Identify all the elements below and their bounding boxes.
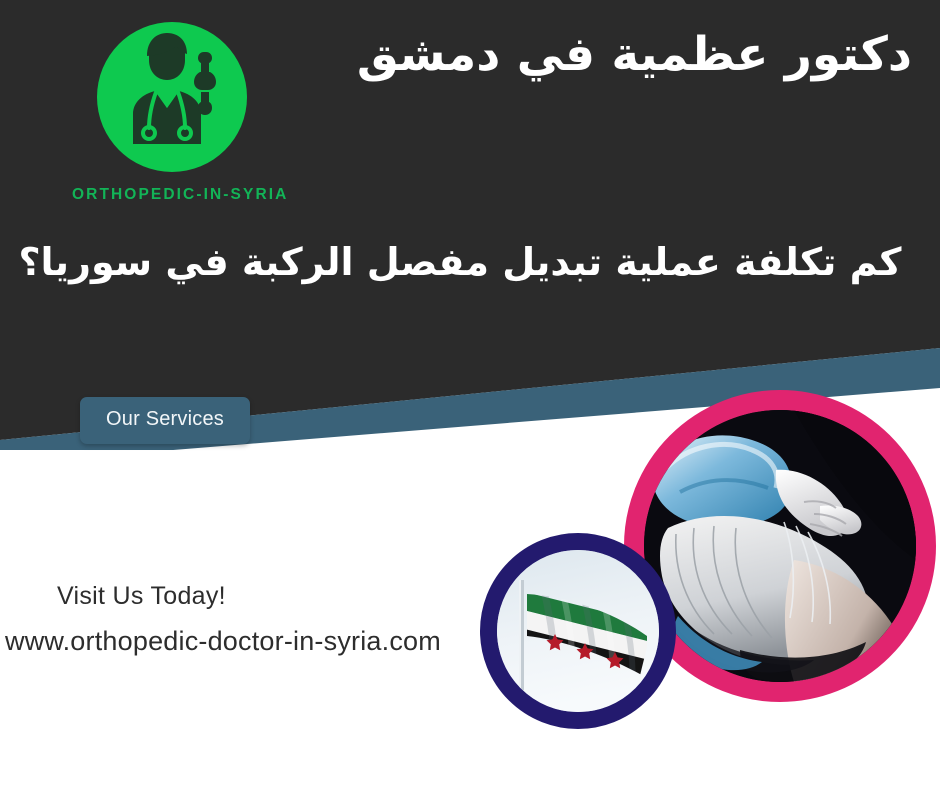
brand-logo-text: ORTHOPEDIC-IN-SYRIA xyxy=(72,186,272,204)
page-subheadline: كم تكلفة عملية تبديل مفصل الركبة في سوري… xyxy=(0,238,920,287)
page-headline: دكتور عظمية في دمشق xyxy=(282,26,912,85)
syria-flag-photo xyxy=(480,533,676,729)
brand-logo: ORTHOPEDIC-IN-SYRIA xyxy=(72,22,272,204)
poster-canvas: ORTHOPEDIC-IN-SYRIA دكتور عظمية في دمشق … xyxy=(0,0,940,788)
doctor-with-bone-icon xyxy=(97,22,247,172)
our-services-badge[interactable]: Our Services xyxy=(80,397,250,444)
visit-us-text: Visit Us Today! xyxy=(57,582,226,611)
website-url[interactable]: www.orthopedic-doctor-in-syria.com xyxy=(5,626,441,657)
